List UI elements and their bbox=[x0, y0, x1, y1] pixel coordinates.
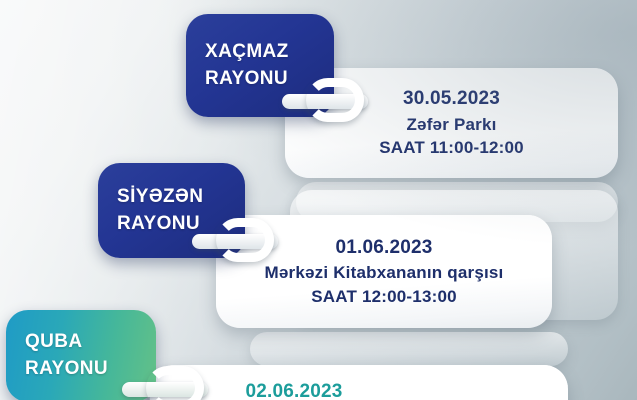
clip-connector-1 bbox=[282, 78, 368, 122]
event-card-3[interactable]: 02.06.2023 bbox=[150, 365, 568, 400]
region-name-line1: SİYƏZƏN bbox=[98, 184, 245, 211]
event-time: SAAT 11:00-12:00 bbox=[379, 136, 524, 159]
event-place: Zəfər Parkı bbox=[406, 113, 496, 136]
clip-connector-2 bbox=[192, 218, 278, 262]
event-place: Mərkəzi Kitabxananın qarşısı bbox=[265, 261, 504, 284]
ghost-card-2-lower bbox=[250, 332, 568, 366]
clip-ring bbox=[306, 78, 364, 122]
region-name-line1: XAÇMAZ bbox=[186, 39, 334, 66]
clip-ring bbox=[216, 218, 274, 262]
clip-ring bbox=[146, 366, 204, 400]
poster-canvas: 30.05.2023 Zəfər Parkı SAAT 11:00-12:00 … bbox=[0, 0, 637, 400]
event-date: 30.05.2023 bbox=[403, 86, 500, 112]
event-time: SAAT 12:00-13:00 bbox=[311, 285, 457, 308]
event-date: 01.06.2023 bbox=[335, 235, 432, 261]
clip-connector-3 bbox=[122, 366, 208, 400]
event-date: 02.06.2023 bbox=[245, 379, 342, 400]
region-name-line1: QUBA bbox=[6, 329, 156, 356]
